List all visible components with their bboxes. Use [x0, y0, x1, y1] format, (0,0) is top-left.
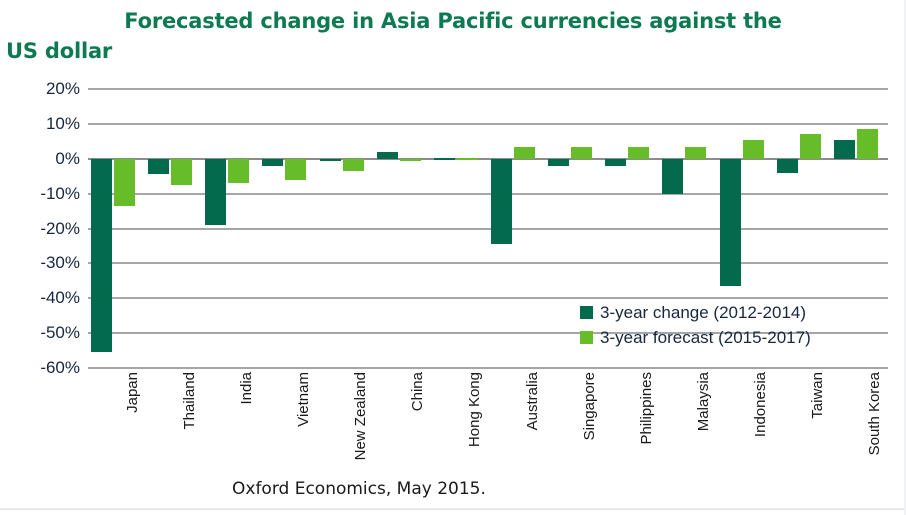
- bar[interactable]: [743, 140, 764, 159]
- bar-group: [431, 89, 488, 368]
- y-axis-labels: 20%10%0%-10%-20%-30%-40%-50%-60%: [0, 89, 80, 368]
- x-axis-category-label: Taiwan: [809, 372, 826, 477]
- bar[interactable]: [571, 147, 592, 159]
- source-note: Oxford Economics, May 2015.: [232, 479, 486, 499]
- legend-label-light: 3-year forecast (2015-2017): [600, 328, 811, 348]
- legend-swatch-icon-dark: [580, 306, 593, 319]
- bar[interactable]: [377, 152, 398, 159]
- bar[interactable]: [857, 129, 878, 159]
- bar[interactable]: [343, 159, 364, 171]
- x-axis-category-label: Hong Kong: [466, 372, 483, 477]
- bar[interactable]: [228, 159, 249, 183]
- legend-item-dark[interactable]: 3-year change (2012-2014): [580, 300, 811, 325]
- bar[interactable]: [628, 147, 649, 159]
- x-axis-category-label: Malaysia: [695, 372, 712, 477]
- bar[interactable]: [91, 159, 112, 353]
- bar-group: [202, 89, 259, 368]
- bar[interactable]: [457, 158, 478, 160]
- y-axis-tick-label: 10%: [0, 114, 80, 134]
- bar-group: [831, 89, 888, 368]
- y-axis-tick-label: -40%: [0, 288, 80, 308]
- bar[interactable]: [777, 159, 798, 173]
- chart-legend: 3-year change (2012-2014) 3-year forecas…: [580, 300, 811, 350]
- bar-group: [88, 89, 145, 368]
- chart-title: Forecasted change in Asia Pacific curren…: [0, 6, 906, 66]
- x-axis-category-label: Japan: [124, 372, 141, 477]
- bar[interactable]: [148, 159, 169, 175]
- chart-title-line-2: US dollar: [4, 36, 902, 66]
- legend-swatch-icon-light: [580, 331, 593, 344]
- bar[interactable]: [434, 158, 455, 160]
- bar[interactable]: [548, 159, 569, 166]
- legend-label-dark: 3-year change (2012-2014): [600, 303, 806, 323]
- bottom-divider: [0, 508, 906, 510]
- x-axis-category-label: Singapore: [581, 372, 598, 477]
- legend-item-light[interactable]: 3-year forecast (2015-2017): [580, 325, 811, 350]
- bar[interactable]: [800, 134, 821, 158]
- y-axis-tick-label: -10%: [0, 184, 80, 204]
- bar[interactable]: [262, 159, 283, 166]
- x-axis-category-label: Thailand: [181, 372, 198, 477]
- bar-group: [145, 89, 202, 368]
- bar[interactable]: [491, 159, 512, 244]
- bar[interactable]: [662, 159, 683, 194]
- bar[interactable]: [834, 140, 855, 159]
- x-axis-category-label: Indonesia: [752, 372, 769, 477]
- x-axis-category-label: South Korea: [866, 372, 883, 477]
- bar[interactable]: [171, 159, 192, 185]
- bar[interactable]: [400, 159, 421, 161]
- y-axis-tick-label: -50%: [0, 323, 80, 343]
- x-axis-category-label: India: [238, 372, 255, 477]
- bar-group: [488, 89, 545, 368]
- y-axis-tick-label: 20%: [0, 79, 80, 99]
- bar[interactable]: [285, 159, 306, 180]
- chart-container: Forecasted change in Asia Pacific curren…: [0, 0, 906, 515]
- bar-group: [374, 89, 431, 368]
- bar[interactable]: [205, 159, 226, 225]
- bar[interactable]: [514, 147, 535, 159]
- bar[interactable]: [114, 159, 135, 206]
- bar[interactable]: [605, 159, 626, 166]
- bar[interactable]: [685, 147, 706, 159]
- x-axis-category-label: New Zealand: [352, 372, 369, 477]
- y-axis-tick-label: -30%: [0, 253, 80, 273]
- bar-group: [317, 89, 374, 368]
- bar-group: [259, 89, 316, 368]
- x-axis-category-label: Australia: [524, 372, 541, 477]
- chart-title-line-1: Forecasted change in Asia Pacific curren…: [4, 6, 902, 36]
- x-axis-category-label: Philippines: [638, 372, 655, 477]
- bar[interactable]: [720, 159, 741, 286]
- y-axis-tick-label: -60%: [0, 358, 80, 378]
- y-axis-tick-label: 0%: [0, 149, 80, 169]
- x-axis-category-label: Vietnam: [295, 372, 312, 477]
- x-axis-category-label: China: [409, 372, 426, 477]
- bar[interactable]: [320, 159, 341, 161]
- y-axis-tick-label: -20%: [0, 219, 80, 239]
- x-axis-labels: JapanThailandIndiaVietnamNew ZealandChin…: [88, 372, 888, 477]
